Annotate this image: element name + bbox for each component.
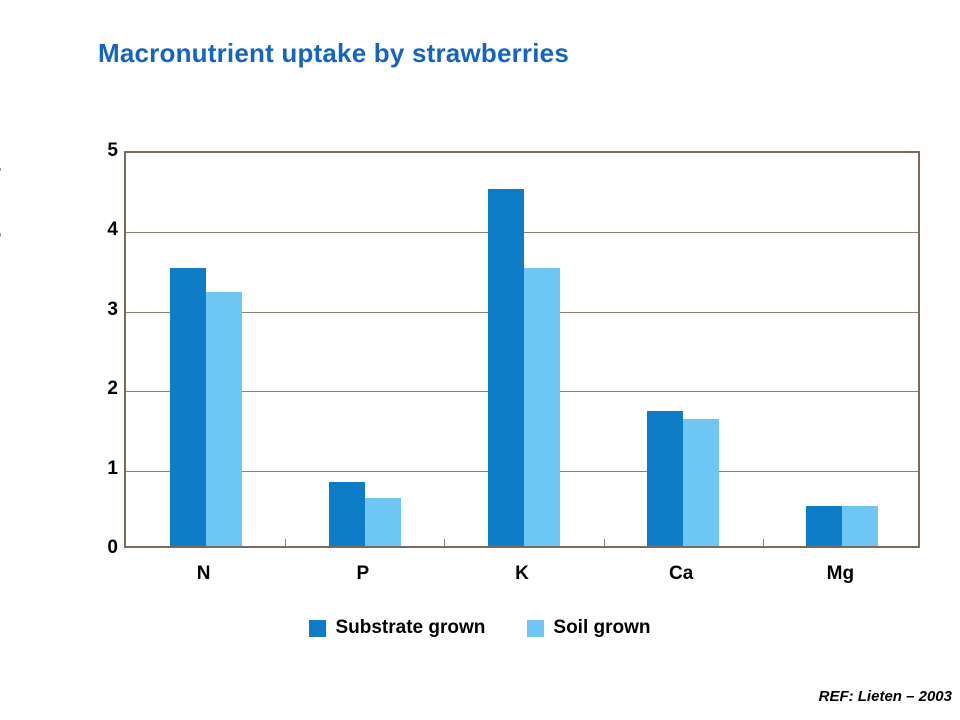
bar[interactable] — [365, 498, 401, 546]
page-title: Macronutrient uptake by strawberries — [98, 38, 569, 69]
y-axis-title: Kg whole plant /t fruit — [0, 0, 2, 252]
bar[interactable] — [842, 506, 878, 546]
legend-label: Substrate grown — [335, 617, 485, 639]
legend-entry[interactable]: Substrate grown — [309, 617, 485, 639]
bar[interactable] — [488, 189, 524, 546]
bar-group — [647, 153, 719, 546]
legend-entry[interactable]: Soil grown — [527, 617, 650, 639]
bar[interactable] — [806, 506, 842, 546]
legend-swatch-icon — [527, 620, 544, 637]
bar-group — [170, 153, 242, 546]
bar[interactable] — [170, 268, 206, 546]
bar[interactable] — [524, 268, 560, 546]
bar-group — [488, 153, 560, 546]
x-tick-label: K — [482, 563, 562, 585]
chart-legend: Substrate grownSoil grown — [0, 617, 960, 639]
slide-canvas: Macronutrient uptake by strawberries Kg … — [0, 0, 960, 720]
y-tick-label: 5 — [84, 141, 118, 160]
x-axis-tick-labels: NPKCaMg — [124, 563, 920, 589]
plot-area — [124, 151, 920, 548]
bar-group — [329, 153, 401, 546]
y-axis-tick-labels: 012345 — [76, 151, 118, 548]
x-tick-label: Mg — [800, 563, 880, 585]
bar[interactable] — [647, 411, 683, 546]
reference-note: REF: Lieten – 2003 — [819, 688, 952, 705]
y-tick-label: 1 — [84, 459, 118, 478]
bar[interactable] — [329, 482, 365, 546]
y-tick-label: 4 — [84, 220, 118, 239]
x-axis-tick — [444, 539, 445, 546]
bar[interactable] — [683, 419, 719, 546]
legend-label: Soil grown — [553, 617, 650, 639]
legend-swatch-icon — [309, 620, 326, 637]
bar[interactable] — [206, 292, 242, 546]
x-axis-tick — [285, 539, 286, 546]
y-tick-label: 3 — [84, 300, 118, 319]
y-tick-label: 0 — [84, 538, 118, 557]
x-axis-tick — [604, 539, 605, 546]
x-axis-tick — [763, 539, 764, 546]
bar-group — [806, 153, 878, 546]
y-tick-label: 2 — [84, 379, 118, 398]
x-tick-label: P — [323, 563, 403, 585]
x-tick-label: Ca — [641, 563, 721, 585]
x-tick-label: N — [164, 563, 244, 585]
